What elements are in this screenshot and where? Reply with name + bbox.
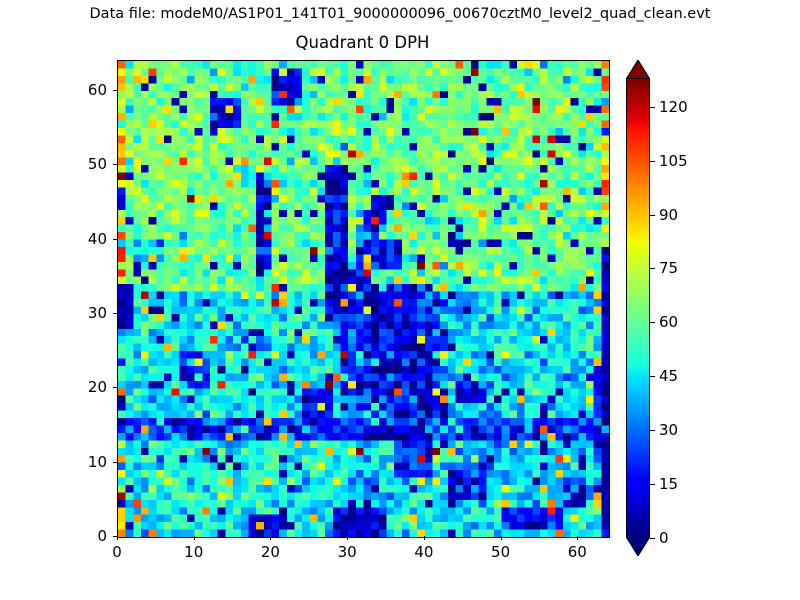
y-tick-mark [113, 536, 117, 537]
plot-title: Quadrant 0 DPH [117, 33, 608, 52]
y-tick-mark [113, 387, 117, 388]
y-tick-label: 20 [47, 378, 107, 396]
x-tick-mark [270, 536, 271, 540]
x-tick-mark [347, 536, 348, 540]
x-tick-label: 10 [184, 543, 203, 561]
x-tick-label: 20 [261, 543, 280, 561]
colorbar-gradient-image [627, 79, 649, 537]
colorbar-tick-label: 45 [659, 367, 678, 385]
y-tick-label: 10 [47, 453, 107, 471]
colorbar-tick-mark [650, 430, 655, 431]
colorbar-tick-label: 60 [659, 313, 678, 331]
x-tick-mark [117, 536, 118, 540]
colorbar-tick-label: 90 [659, 206, 678, 224]
heatmap-image[interactable] [118, 61, 609, 537]
x-tick-mark [577, 536, 578, 540]
y-tick-label: 60 [47, 81, 107, 99]
figure-canvas: Data file: modeM0/AS1P01_141T01_90000000… [0, 0, 800, 600]
y-tick-label: 40 [47, 230, 107, 248]
x-tick-label: 30 [338, 543, 357, 561]
colorbar-tick-mark [650, 161, 655, 162]
y-tick-mark [113, 90, 117, 91]
colorbar-tick-label: 75 [659, 259, 678, 277]
x-tick-mark [501, 536, 502, 540]
colorbar[interactable]: 0153045607590105120 [626, 60, 746, 546]
colorbar-extend-min-arrow-icon [626, 537, 650, 556]
y-tick-mark [113, 462, 117, 463]
colorbar-tick-mark [650, 215, 655, 216]
x-tick-mark [424, 536, 425, 540]
colorbar-tick-mark [650, 268, 655, 269]
colorbar-tick-label: 30 [659, 421, 678, 439]
y-tick-mark [113, 239, 117, 240]
colorbar-tick-label: 120 [659, 98, 688, 116]
colorbar-tick-label: 105 [659, 152, 688, 170]
colorbar-tick-label: 15 [659, 475, 678, 493]
x-tick-label: 0 [112, 543, 122, 561]
y-tick-label: 50 [47, 155, 107, 173]
colorbar-extend-max-arrow-icon [626, 60, 650, 79]
colorbar-tick-mark [650, 107, 655, 108]
colorbar-tick-mark [650, 484, 655, 485]
y-tick-label: 0 [47, 527, 107, 545]
heatmap-axes[interactable] [117, 60, 610, 538]
colorbar-tick-mark [650, 322, 655, 323]
colorbar-tick-label: 0 [659, 529, 669, 547]
x-tick-mark [194, 536, 195, 540]
colorbar-gradient[interactable] [626, 78, 650, 538]
colorbar-tick-mark [650, 376, 655, 377]
x-tick-label: 40 [414, 543, 433, 561]
data-file-suptitle: Data file: modeM0/AS1P01_141T01_90000000… [0, 6, 800, 22]
x-tick-label: 50 [491, 543, 510, 561]
y-tick-mark [113, 313, 117, 314]
x-tick-label: 60 [568, 543, 587, 561]
y-tick-mark [113, 164, 117, 165]
colorbar-tick-mark [650, 538, 655, 539]
y-tick-label: 30 [47, 304, 107, 322]
